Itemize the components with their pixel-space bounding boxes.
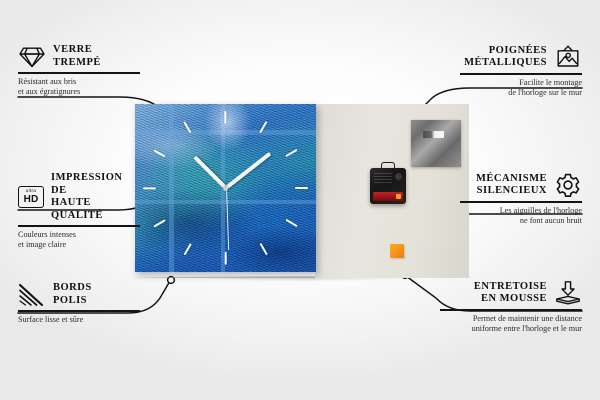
feature-divider [18,310,140,312]
feature-header: ultra HD IMPRESSION DE HAUTE QUALITÉ [18,172,140,222]
feature-verre-trempe: VERRE TREMPÉ Résistant aux bris et aux é… [18,44,140,97]
foam-spacer [390,244,404,258]
feature-header: POIGNÉES MÉTALLIQUES [460,44,582,70]
feature-subtitle: Les aiguilles de l'horloge ne font aucun… [460,206,582,226]
metal-hanger-plate [411,120,461,167]
feature-divider [460,201,582,203]
feature-bords-polis: BORDS POLIS Surface lisse et sûre [18,282,140,325]
mechanism-hang-tab [381,162,395,169]
feature-impression-haute-qualite: ultra HD IMPRESSION DE HAUTE QUALITÉ Cou… [18,172,140,250]
feature-header: ENTRETOISE EN MOUSSE [440,280,582,306]
infographic-canvas: VERRE TREMPÉ Résistant aux bris et aux é… [0,0,600,400]
hanger-slot [423,131,444,138]
clock-hub [223,186,228,191]
clock-face-highlight [204,104,251,151]
feature-title: VERRE TREMPÉ [53,44,101,69]
feature-title: POIGNÉES MÉTALLIQUES [464,45,547,70]
clock-tick [143,187,156,189]
feature-title: IMPRESSION DE HAUTE QUALITÉ [51,172,140,222]
ultra-hd-icon-main-text: HD [24,195,39,205]
feature-divider [460,73,582,75]
foam-spacer-icon [554,280,582,306]
gear-icon [554,172,582,198]
battery [373,192,403,201]
feature-header: BORDS POLIS [18,282,140,307]
feature-poignees-metalliques: POIGNÉES MÉTALLIQUES Facilite le montage… [460,44,582,98]
product-image [135,104,469,278]
feature-header: MÉCANISME SILENCIEUX [460,172,582,198]
feature-header: VERRE TREMPÉ [18,44,140,69]
clock-face [135,104,316,272]
clock-back-panel [315,104,469,278]
ultra-hd-icon: ultra HD [18,186,44,208]
picture-hanger-icon [554,44,582,70]
mechanism-dial [395,173,402,180]
feature-mecanisme-silencieux: MÉCANISME SILENCIEUX Les aiguilles de l'… [460,172,582,226]
clock-tick [224,252,226,265]
feature-title: ENTRETOISE EN MOUSSE [474,281,547,306]
feature-entretoise-en-mousse: ENTRETOISE EN MOUSSE Permet de maintenir… [440,280,582,334]
feature-subtitle: Permet de maintenir une distance uniform… [440,314,582,334]
feature-divider [18,225,140,227]
feature-subtitle: Facilite le montage de l'horloge sur le … [460,78,582,98]
feature-divider [18,72,140,74]
clock-mechanism [370,168,406,204]
feature-title: BORDS POLIS [53,282,92,307]
feature-divider [440,309,582,311]
feature-subtitle: Couleurs intenses et image claire [18,230,140,250]
feature-subtitle: Résistant aux bris et aux égratignures [18,77,140,97]
polished-edge-icon [18,283,46,307]
diamond-icon [18,45,46,69]
mechanism-label [374,173,392,183]
feature-subtitle: Surface lisse et sûre [18,315,140,325]
feature-title: MÉCANISME SILENCIEUX [476,173,547,198]
